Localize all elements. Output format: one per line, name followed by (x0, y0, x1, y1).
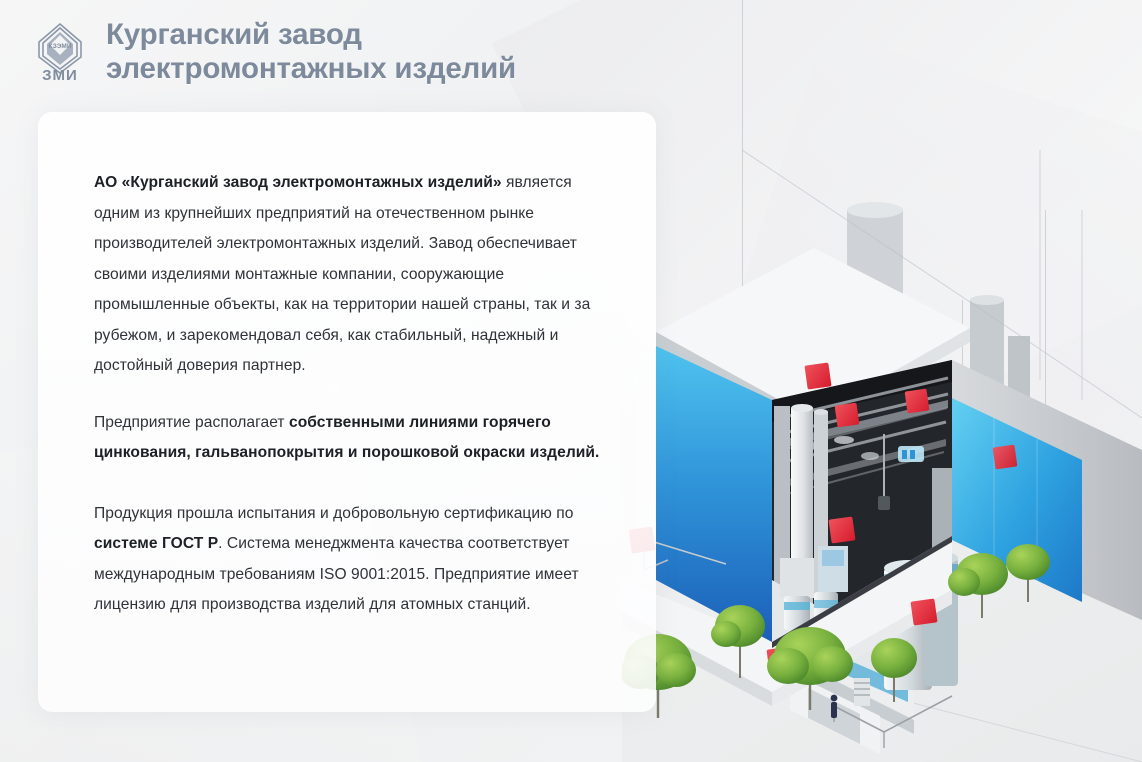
red-marker[interactable] (804, 362, 831, 389)
logo-inner-text: КЗЭМИ (49, 43, 72, 50)
paragraph-1-lead: АО «Курганский завод электромонтажных из… (94, 174, 502, 191)
isometric-factory-illustration (622, 150, 1142, 762)
page-title: Курганский завод электромонтажных издели… (106, 18, 516, 86)
paragraph-company-intro: АО «Курганский завод электромонтажных из… (94, 168, 614, 382)
paragraph-production-lines: Предприятие располагает собственными лин… (94, 408, 614, 469)
worker-figure (831, 695, 838, 718)
red-marker[interactable] (993, 445, 1018, 470)
red-marker[interactable] (905, 389, 930, 414)
paragraph-1-rest: является одним из крупнейших предприятий… (94, 174, 590, 374)
logo-bottom-text: ЗМИ (42, 67, 78, 83)
paragraph-3-prefix: Продукция прошла испытания и добровольну… (94, 505, 574, 522)
red-marker[interactable] (910, 598, 937, 625)
paragraph-certification: Продукция прошла испытания и добровольну… (94, 499, 614, 621)
paragraph-2-prefix: Предприятие располагает (94, 414, 289, 431)
info-card: АО «Курганский завод электромонтажных из… (38, 112, 656, 712)
slide-root: КЗЭМИ ЗМИ Курганский завод электромонтаж… (0, 0, 1142, 762)
paragraph-3-bold: системе ГОСТ Р (94, 535, 218, 552)
red-marker[interactable] (835, 403, 860, 428)
info-card-body: АО «Курганский завод электромонтажных из… (94, 168, 614, 621)
page-header: КЗЭМИ ЗМИ Курганский завод электромонтаж… (0, 0, 1142, 104)
red-marker[interactable] (828, 516, 855, 543)
kzemi-diamond-logo-icon: КЗЭМИ ЗМИ (36, 21, 84, 83)
